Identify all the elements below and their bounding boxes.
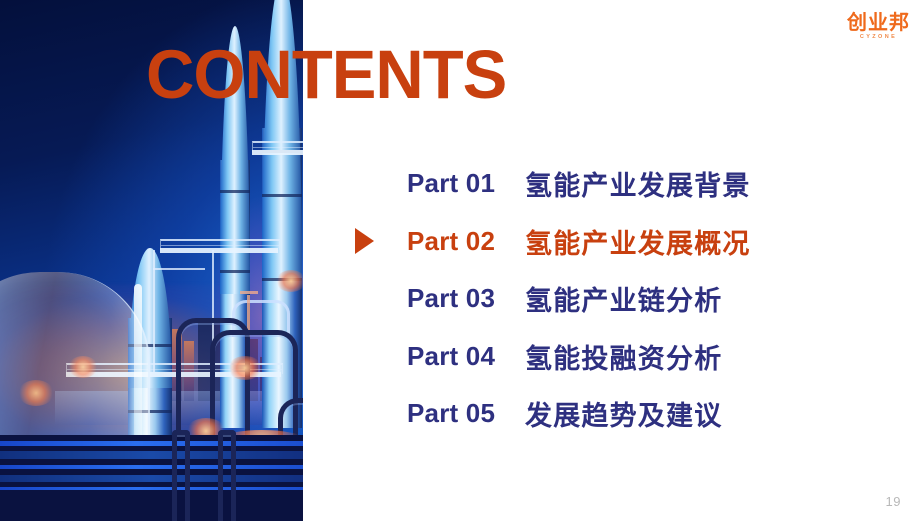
toc-item-title: 氢能产业链分析 xyxy=(525,279,722,318)
toc-item-part-04[interactable]: Part 04 氢能投融资分析 xyxy=(355,328,875,386)
toc-item-part-label: Part 04 xyxy=(407,341,525,372)
glow-node-3 xyxy=(228,356,262,380)
toc-item-title: 氢能投融资分析 xyxy=(525,337,722,376)
toc-item-part-05[interactable]: Part 05 发展趋势及建议 xyxy=(355,385,875,443)
glow-node-6 xyxy=(276,270,303,292)
toc-item-title: 氢能产业发展概况 xyxy=(525,222,751,261)
foreground-pipe-post-1 xyxy=(172,430,190,521)
toc-item-part-label: Part 01 xyxy=(407,168,525,199)
triangle-right-icon xyxy=(355,228,374,254)
pipe-horizontal-1 xyxy=(153,268,205,270)
slide-canvas: CONTENTS Part 01 氢能产业发展背景 Part 02 氢能产业发展… xyxy=(0,0,923,521)
toc-item-part-label: Part 05 xyxy=(407,398,525,429)
marker-slot xyxy=(355,228,407,254)
toc-item-part-02[interactable]: Part 02 氢能产业发展概况 xyxy=(355,213,875,271)
toc-item-part-label: Part 02 xyxy=(407,226,525,257)
marker-slot xyxy=(355,286,407,312)
foreground-pipe-post-2 xyxy=(218,430,236,521)
toc-item-part-01[interactable]: Part 01 氢能产业发展背景 xyxy=(355,155,875,213)
brand-logo: 创业邦 CYZONE xyxy=(847,13,910,41)
toc-item-title: 氢能产业发展背景 xyxy=(525,164,751,203)
tower-railing-middle xyxy=(160,239,280,250)
toc-item-title: 发展趋势及建议 xyxy=(525,394,722,433)
ground-band xyxy=(0,435,303,521)
page-title: CONTENTS xyxy=(146,40,506,109)
marker-slot xyxy=(355,343,407,369)
page-number: 19 xyxy=(886,494,901,509)
brand-logo-name-cn: 创业邦 xyxy=(847,13,910,33)
marker-slot xyxy=(355,401,407,427)
marker-slot xyxy=(355,171,407,197)
tower-railing-upper xyxy=(252,141,303,152)
contents-list: Part 01 氢能产业发展背景 Part 02 氢能产业发展概况 Part 0… xyxy=(355,155,875,443)
brand-logo-name-en: CYZONE xyxy=(847,35,910,41)
toc-item-part-03[interactable]: Part 03 氢能产业链分析 xyxy=(355,270,875,328)
toc-item-part-label: Part 03 xyxy=(407,283,525,314)
